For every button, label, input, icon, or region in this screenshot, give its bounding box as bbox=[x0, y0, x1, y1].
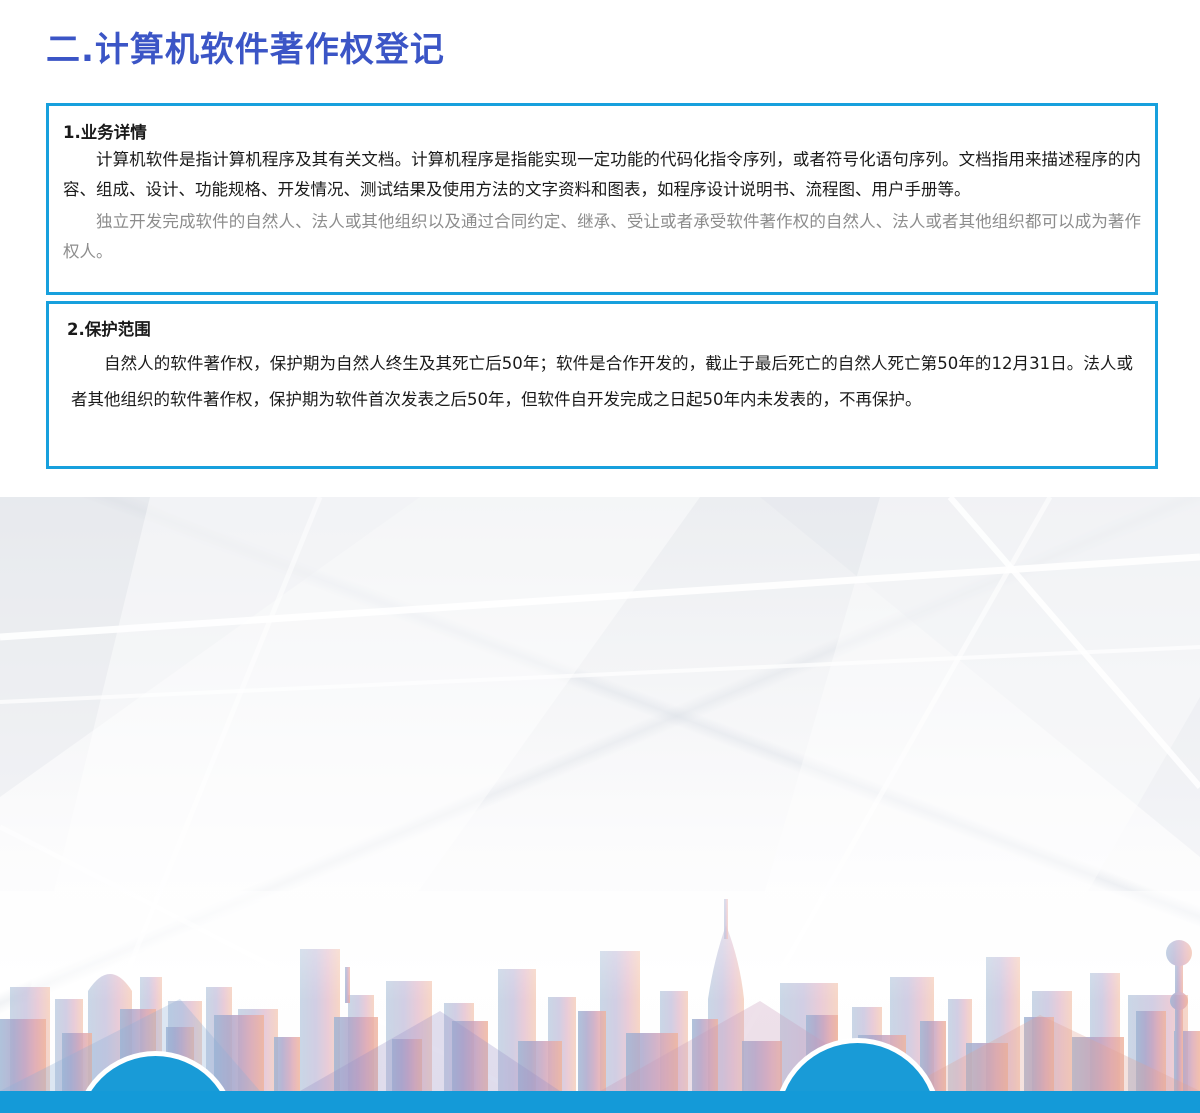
page-title: 二.计算机软件著作权登记 bbox=[46, 22, 445, 71]
background-rays-decoration bbox=[0, 497, 1200, 1113]
info-box-protection-scope: 2.保护范围 自然人的软件著作权，保护期为自然人终生及其死亡后50年；软件是合作… bbox=[46, 301, 1158, 469]
document-section: 二.计算机软件著作权登记 1.业务详情 计算机软件是指计算机程序及其有关文档。计… bbox=[0, 0, 1200, 497]
bottom-accent-bar bbox=[0, 1091, 1200, 1113]
paragraph-business-1: 计算机软件是指计算机程序及其有关文档。计算机程序是指能实现一定功能的代码化指令序… bbox=[49, 143, 1155, 205]
info-box-business-detail: 1.业务详情 计算机软件是指计算机程序及其有关文档。计算机程序是指能实现一定功能… bbox=[46, 103, 1158, 295]
box-heading-scope: 2.保护范围 bbox=[49, 304, 1155, 340]
box-heading-business: 1.业务详情 bbox=[49, 106, 1155, 143]
paragraph-business-2: 独立开发完成软件的自然人、法人或其他组织以及通过合同约定、继承、受让或者承受软件… bbox=[49, 205, 1155, 267]
paragraph-scope-1: 自然人的软件著作权，保护期为自然人终生及其死亡后50年；软件是合作开发的，截止于… bbox=[49, 340, 1155, 418]
infographic-section: 所需要 的材料 软件著 作权登记 申请表 软件 源代码 软件使 用说明书 或操作… bbox=[0, 497, 1200, 1113]
